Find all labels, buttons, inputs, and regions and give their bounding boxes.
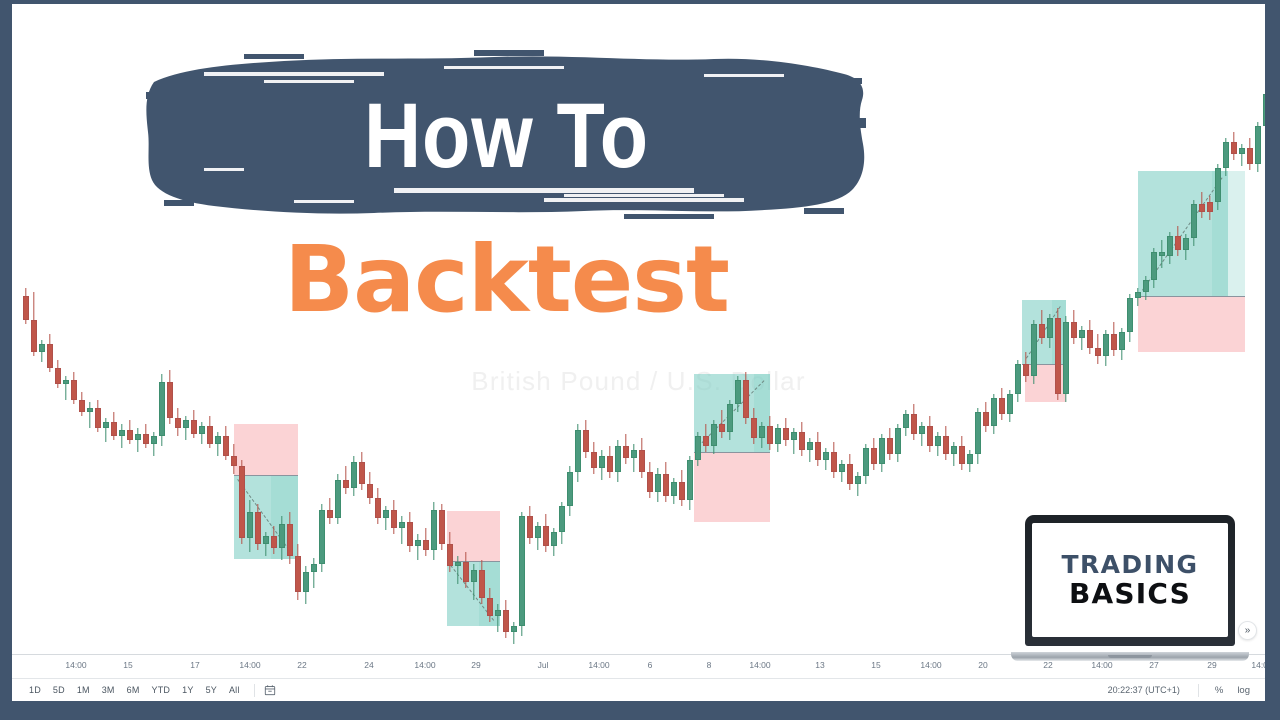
bottom-toolbar: 1D5D1M3M6MYTD1Y5YAll 20:22:37 (UTC+1) % … xyxy=(12,678,1265,701)
logo-line-1: TRADING xyxy=(1062,552,1199,577)
candle-body xyxy=(1071,322,1076,338)
candlestick xyxy=(191,410,196,438)
candle-body xyxy=(47,344,52,368)
candlestick xyxy=(1055,308,1060,400)
candle-body xyxy=(567,472,572,506)
candle-body xyxy=(1047,318,1052,338)
candle-body xyxy=(519,516,524,626)
brand-logo: TRADING BASICS xyxy=(1011,515,1249,667)
candlestick xyxy=(743,372,748,424)
candlestick xyxy=(1175,226,1180,256)
candle-body xyxy=(1175,236,1180,250)
candlestick xyxy=(375,488,380,524)
candle-body xyxy=(951,446,956,454)
candle-body xyxy=(1103,334,1108,356)
candlestick xyxy=(215,432,220,456)
log-scale-button[interactable]: log xyxy=(1230,683,1257,698)
candle-body xyxy=(1159,252,1164,256)
candlestick xyxy=(591,442,596,474)
candle-body xyxy=(1231,142,1236,154)
candlestick xyxy=(863,444,868,484)
calendar-icon[interactable] xyxy=(264,684,276,696)
laptop-screen: TRADING BASICS xyxy=(1032,523,1228,637)
candle-body xyxy=(983,412,988,426)
candlestick xyxy=(1103,330,1108,366)
candle-wick xyxy=(121,424,122,448)
candle-body xyxy=(167,382,172,418)
candlestick xyxy=(1159,240,1164,268)
candle-body xyxy=(895,428,900,454)
candlestick xyxy=(351,456,356,496)
candlestick xyxy=(391,500,396,534)
candle-body xyxy=(463,562,468,582)
candlestick xyxy=(543,514,548,552)
candle-body xyxy=(775,428,780,444)
candle-wick xyxy=(313,558,314,588)
candlestick xyxy=(359,452,364,490)
candlestick xyxy=(1119,328,1124,360)
candlestick xyxy=(447,532,452,572)
candlestick xyxy=(1215,164,1220,210)
candlestick xyxy=(951,442,956,466)
candle-body xyxy=(207,426,212,444)
candlestick xyxy=(751,408,756,444)
candle-body xyxy=(279,524,284,548)
candle-body xyxy=(343,480,348,488)
candle-body xyxy=(879,438,884,464)
candlestick xyxy=(407,512,412,552)
candlestick xyxy=(287,512,292,564)
candle-body xyxy=(335,480,340,518)
candlestick xyxy=(831,442,836,478)
candle-body xyxy=(431,510,436,550)
candle-body xyxy=(439,510,444,544)
candle-body xyxy=(695,436,700,460)
candlestick xyxy=(887,428,892,460)
candle-body xyxy=(743,380,748,418)
candle-body xyxy=(1087,330,1092,348)
candle-body xyxy=(631,450,636,458)
candle-body xyxy=(39,344,44,352)
range-button-5d[interactable]: 5D xyxy=(48,683,70,697)
candlestick xyxy=(1127,294,1132,342)
candlestick xyxy=(935,432,940,456)
candlestick xyxy=(687,456,692,510)
candle-body xyxy=(495,610,500,616)
candlestick xyxy=(815,432,820,466)
percent-scale-button[interactable]: % xyxy=(1208,683,1230,698)
candlestick xyxy=(559,502,564,544)
candlestick xyxy=(759,422,764,448)
candlestick xyxy=(671,478,676,504)
candlestick xyxy=(1047,314,1052,348)
candlestick xyxy=(1151,248,1156,288)
candle-body xyxy=(823,452,828,460)
x-axis-tick: 13 xyxy=(815,660,824,670)
candlestick xyxy=(519,512,524,636)
candlestick xyxy=(279,516,284,560)
candlestick xyxy=(1143,276,1148,300)
candle-body xyxy=(359,462,364,484)
candle-body xyxy=(327,510,332,518)
candle-body xyxy=(535,526,540,538)
candle-body xyxy=(527,516,532,538)
candlestick xyxy=(735,376,740,412)
candle-body xyxy=(1119,332,1124,350)
candle-body xyxy=(711,424,716,446)
candlestick xyxy=(1223,138,1228,176)
candle-body xyxy=(679,482,684,500)
candlestick xyxy=(95,400,100,432)
candlestick xyxy=(247,500,252,552)
candlestick xyxy=(711,420,716,454)
x-axis-tick: 15 xyxy=(123,660,132,670)
candle-body xyxy=(935,436,940,446)
x-axis-tick: 14:00 xyxy=(239,660,260,670)
candle-body xyxy=(583,430,588,452)
candle-body xyxy=(559,506,564,532)
x-axis-tick: 20 xyxy=(978,660,987,670)
candlestick xyxy=(655,468,660,502)
candlestick xyxy=(1031,320,1036,384)
candlestick xyxy=(647,462,652,498)
candle-body xyxy=(1079,330,1084,338)
candlestick xyxy=(1095,334,1100,364)
x-axis-tick: 24 xyxy=(364,660,373,670)
candlestick xyxy=(503,600,508,638)
candlestick xyxy=(1063,316,1068,402)
candle-body xyxy=(239,466,244,538)
candlestick xyxy=(399,516,404,544)
candlestick xyxy=(599,450,604,480)
x-axis-tick: 14:00 xyxy=(920,660,941,670)
toolbar-right-group: 20:22:37 (UTC+1) % log xyxy=(1099,683,1265,698)
candlestick xyxy=(1183,234,1188,260)
candlestick xyxy=(839,460,844,482)
candlestick xyxy=(639,438,644,478)
candlestick xyxy=(511,622,516,644)
candlestick xyxy=(607,446,612,478)
candlestick xyxy=(463,552,468,588)
candle-body xyxy=(263,536,268,544)
range-button-ytd[interactable]: YTD xyxy=(147,683,176,697)
candle-body xyxy=(303,572,308,592)
candle-body xyxy=(1055,318,1060,394)
candlestick xyxy=(1039,310,1044,344)
stop-loss-zone xyxy=(1138,296,1245,352)
candle-body xyxy=(375,498,380,518)
range-button-3m[interactable]: 3M xyxy=(97,683,120,697)
candle-body xyxy=(703,436,708,446)
x-axis-tick: 14:00 xyxy=(414,660,435,670)
candle-wick xyxy=(457,556,458,584)
candle-body xyxy=(231,456,236,466)
candlestick xyxy=(207,416,212,448)
laptop-notch xyxy=(1108,655,1152,658)
candle-body xyxy=(671,482,676,496)
candle-body xyxy=(367,484,372,498)
candlestick xyxy=(695,432,700,466)
candle-body xyxy=(199,426,204,434)
candlestick xyxy=(431,502,436,560)
candlestick xyxy=(807,438,812,462)
candle-body xyxy=(183,420,188,428)
candle-body xyxy=(1239,148,1244,154)
candlestick xyxy=(927,416,932,452)
candle-body xyxy=(1167,236,1172,256)
candle-body xyxy=(991,398,996,426)
candlestick xyxy=(1135,288,1140,306)
candle-body xyxy=(1063,322,1068,394)
candle-body xyxy=(151,436,156,444)
candlestick xyxy=(1023,352,1028,382)
range-button-1d[interactable]: 1D xyxy=(24,683,46,697)
entry-price-line xyxy=(1138,296,1245,297)
candle-body xyxy=(623,446,628,458)
candlestick xyxy=(775,424,780,452)
candlestick xyxy=(151,432,156,456)
candle-body xyxy=(447,544,452,566)
x-axis-tick: Jul xyxy=(538,660,549,670)
x-axis-tick: 15 xyxy=(871,660,880,670)
candle-body xyxy=(103,422,108,428)
candle-body xyxy=(191,420,196,434)
candle-body xyxy=(79,400,84,412)
candle-body xyxy=(871,448,876,464)
candle-wick xyxy=(417,534,418,560)
candle-body xyxy=(127,430,132,440)
candle-body xyxy=(503,610,508,632)
candle-body xyxy=(455,562,460,566)
candle-body xyxy=(223,436,228,456)
candlestick xyxy=(1255,122,1260,172)
x-axis-tick: 22 xyxy=(297,660,306,670)
candlestick xyxy=(231,444,236,474)
x-axis-tick: 14:00 xyxy=(749,660,770,670)
candle-body xyxy=(383,510,388,518)
candlestick xyxy=(1087,320,1092,354)
candlestick xyxy=(31,292,36,356)
candle-body xyxy=(255,512,260,544)
candlestick xyxy=(343,466,348,494)
candlestick xyxy=(263,532,268,556)
candlestick xyxy=(983,402,988,432)
candlestick xyxy=(47,334,52,372)
candle-body xyxy=(831,452,836,472)
candlestick xyxy=(335,474,340,524)
range-button-1y[interactable]: 1Y xyxy=(177,683,198,697)
candlestick xyxy=(1111,322,1116,356)
candle-body xyxy=(311,564,316,572)
clock-label: 20:22:37 (UTC+1) xyxy=(1099,685,1189,695)
candlestick xyxy=(119,424,124,448)
candle-body xyxy=(23,296,28,320)
candlestick xyxy=(415,534,420,560)
candle-body xyxy=(655,474,660,492)
candlestick xyxy=(527,506,532,544)
candle-body xyxy=(55,368,60,384)
range-button-6m[interactable]: 6M xyxy=(122,683,145,697)
candlestick xyxy=(223,426,228,460)
laptop-body: TRADING BASICS xyxy=(1025,515,1235,646)
candle-body xyxy=(543,526,548,546)
candle-body xyxy=(575,430,580,472)
candle-body xyxy=(615,446,620,472)
candle-body xyxy=(1151,252,1156,280)
candle-body xyxy=(1127,298,1132,332)
candle-body xyxy=(647,472,652,492)
candle-body xyxy=(471,570,476,582)
candlestick xyxy=(919,422,924,446)
candlestick xyxy=(719,410,724,438)
candlestick xyxy=(87,402,92,428)
candle-body xyxy=(135,434,140,440)
candlestick xyxy=(1247,138,1252,170)
candlestick xyxy=(1071,310,1076,344)
candlestick xyxy=(847,454,852,490)
toolbar-separator-2 xyxy=(1198,684,1199,697)
candlestick xyxy=(679,470,684,506)
candlestick xyxy=(1263,90,1265,134)
candlestick xyxy=(1207,196,1212,220)
candlestick xyxy=(1191,200,1196,246)
candlestick xyxy=(295,544,300,600)
candle-body xyxy=(791,432,796,440)
x-axis-tick: 6 xyxy=(648,660,653,670)
candle-body xyxy=(719,424,724,432)
candle-body xyxy=(975,412,980,454)
candle-body xyxy=(31,320,36,352)
candle-body xyxy=(767,426,772,444)
candlestick xyxy=(311,558,316,588)
candlestick xyxy=(567,466,572,516)
candle-body xyxy=(1223,142,1228,168)
candlestick xyxy=(23,288,28,324)
candlestick xyxy=(199,422,204,444)
candle-body xyxy=(815,442,820,460)
candle-body xyxy=(1215,168,1220,202)
candle-body xyxy=(159,382,164,436)
candlestick xyxy=(911,404,916,440)
toolbar-separator xyxy=(254,684,255,697)
candlestick xyxy=(55,360,60,388)
candlestick xyxy=(471,564,476,600)
candle-body xyxy=(1207,202,1212,212)
candlestick xyxy=(71,372,76,404)
candlestick xyxy=(159,374,164,446)
candle-body xyxy=(551,532,556,546)
candlestick xyxy=(791,428,796,454)
candlestick xyxy=(727,400,732,440)
candlestick xyxy=(959,436,964,470)
candlestick xyxy=(1015,360,1020,402)
candle-body xyxy=(1199,204,1204,212)
candlestick xyxy=(79,392,84,416)
range-button-1m[interactable]: 1M xyxy=(72,683,95,697)
candle-body xyxy=(999,398,1004,414)
candlestick xyxy=(303,566,308,604)
candle-body xyxy=(511,626,516,632)
candlestick xyxy=(103,418,108,442)
candlestick xyxy=(663,462,668,502)
candle-body xyxy=(175,418,180,428)
candle-body xyxy=(863,448,868,476)
candlestick xyxy=(903,410,908,436)
x-axis-tick: 14:00 xyxy=(65,660,86,670)
candlestick xyxy=(135,428,140,452)
candle-body xyxy=(1039,324,1044,338)
candle-wick xyxy=(401,516,402,544)
range-button-all[interactable]: All xyxy=(224,683,245,697)
candlestick xyxy=(879,434,884,472)
candle-body xyxy=(727,404,732,432)
candle-body xyxy=(903,414,908,428)
candlestick xyxy=(615,440,620,482)
candle-body xyxy=(599,456,604,468)
candlestick xyxy=(991,394,996,434)
candlestick xyxy=(583,420,588,458)
candlestick xyxy=(823,448,828,470)
candle-body xyxy=(1183,238,1188,250)
candle-body xyxy=(319,510,324,564)
candle-body xyxy=(295,556,300,592)
candle-body xyxy=(415,540,420,546)
candlestick xyxy=(975,408,980,464)
candlestick xyxy=(967,450,972,472)
candle-body xyxy=(639,450,644,472)
candle-body xyxy=(1015,364,1020,394)
candle-body xyxy=(1135,292,1140,298)
candle-body xyxy=(143,434,148,444)
candlestick xyxy=(455,556,460,584)
candle-body xyxy=(87,408,92,412)
candlestick xyxy=(239,460,244,544)
candlestick xyxy=(575,424,580,482)
candlestick xyxy=(479,560,484,604)
candle-body xyxy=(1111,334,1116,350)
candle-body xyxy=(735,380,740,404)
candle-body xyxy=(287,524,292,556)
candle-body xyxy=(887,438,892,454)
candlestick xyxy=(143,424,148,448)
candle-body xyxy=(95,408,100,428)
candlestick xyxy=(943,426,948,460)
candlestick xyxy=(1079,326,1084,350)
candlestick xyxy=(255,504,260,550)
candle-wick xyxy=(497,604,498,632)
candle-body xyxy=(919,426,924,434)
candle-body xyxy=(479,570,484,598)
range-button-5y[interactable]: 5Y xyxy=(201,683,222,697)
candle-body xyxy=(799,432,804,450)
candlestick xyxy=(383,506,388,530)
candle-body xyxy=(215,436,220,444)
candlestick xyxy=(1231,132,1236,160)
time-range-buttons: 1D5D1M3M6MYTD1Y5YAll xyxy=(12,683,245,697)
candle-body xyxy=(1031,324,1036,376)
candlestick xyxy=(111,412,116,440)
candlestick xyxy=(1007,390,1012,422)
candlestick xyxy=(319,504,324,572)
candle-body xyxy=(759,426,764,438)
candlestick xyxy=(895,424,900,462)
candle-body xyxy=(111,422,116,436)
candlestick xyxy=(439,504,444,550)
candle-body xyxy=(783,428,788,440)
x-axis-tick: 29 xyxy=(471,660,480,670)
candlestick xyxy=(487,588,492,622)
x-axis-tick: 8 xyxy=(707,660,712,670)
